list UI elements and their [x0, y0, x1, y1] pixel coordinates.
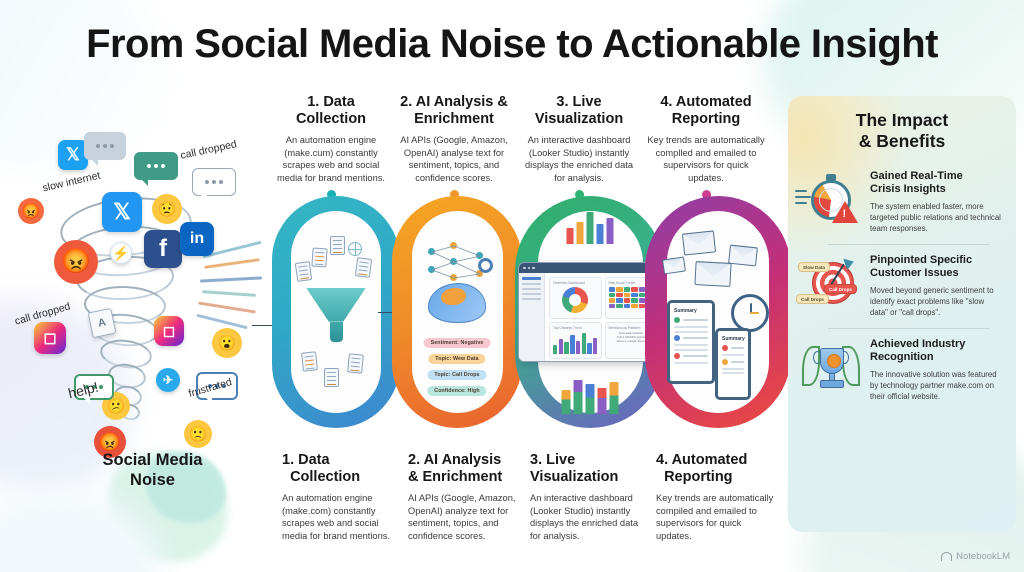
- bar-chart: [553, 332, 598, 354]
- bubble-slow-data: Slow Data: [798, 262, 830, 272]
- heading-line2: & Benefits: [859, 131, 946, 151]
- step-caption-top-4: 4. AutomatedReporting Key trends are aut…: [645, 94, 767, 199]
- stage2-artwork: Sentiment: Negative Topic: Wew Data Topi…: [392, 196, 522, 428]
- impact-benefits-panel: The Impact & Benefits Gained Real-TimeCr…: [788, 96, 1016, 532]
- worried-emoji: 😟: [152, 194, 182, 224]
- summary-heading: Summary: [674, 308, 708, 314]
- benefit-title-line2: Crisis Insights: [870, 183, 946, 195]
- telegram-icon: ✈: [156, 368, 180, 392]
- clock-icon: [731, 294, 769, 332]
- benefit-text: Achieved IndustryRecognition The innovat…: [870, 338, 1004, 402]
- shocked-emoji: 😮: [212, 328, 242, 358]
- step-title-line1: 4. Automated: [660, 94, 751, 110]
- notebooklm-logo-icon: [941, 552, 952, 561]
- angry-emoji: 😡: [54, 240, 98, 284]
- card-title: Top Channel Trend: [553, 326, 598, 330]
- motion-streak: [204, 258, 260, 269]
- document-icon: [301, 351, 318, 371]
- step-body: AI APIs (Google, Amazon, OpenAI) analyse…: [396, 134, 512, 184]
- benefit-divider: [828, 328, 990, 329]
- document-icon: [347, 353, 364, 373]
- benefit-body: The innovative solution was featured by …: [870, 369, 1004, 402]
- notebooklm-watermark: NotebookLM: [941, 551, 1010, 562]
- instagram-icon: ◻: [154, 316, 184, 346]
- frowning-emoji: 🙁: [184, 420, 212, 448]
- page-title: From Social Media Noise to Actionable In…: [0, 22, 1024, 67]
- motion-streak: [200, 276, 262, 282]
- phone-summary-device: Summary: [715, 328, 751, 400]
- step-caption-bottom-2: 2. AI Analysis& Enrichment AI APIs (Goog…: [408, 452, 526, 542]
- globe-icon: [348, 242, 362, 256]
- benefit-icon-slot: Slow Data Call Drops Call Drops: [800, 254, 862, 318]
- benefit-item-customer-issues: Slow Data Call Drops Call Drops Pinpoint…: [788, 254, 1016, 318]
- dashboard-sidebar: [519, 273, 545, 362]
- messenger-icon: ⚡: [110, 242, 132, 264]
- bottom-stacked-bar-chart: [562, 374, 619, 414]
- step-title-line1: 1. Data: [307, 94, 355, 110]
- trophy-laurel-icon: [800, 342, 862, 396]
- document-icon: [295, 261, 312, 282]
- step-body: An automation engine (make.com) constant…: [282, 492, 394, 542]
- benefit-title-line1: Gained Real-Time: [870, 170, 963, 182]
- step-body: AI APIs (Google, Amazon, OpenAI) analyze…: [408, 492, 526, 542]
- step-title-line1: 1. Data: [282, 452, 330, 468]
- envelope-icon: [728, 245, 758, 267]
- step-caption-bottom-1: 1. Data Collection An automation engine …: [282, 452, 394, 542]
- watermark-label: NotebookLM: [956, 551, 1010, 562]
- ai-tag-sentiment: Sentiment: Negative: [424, 338, 491, 348]
- stage4-artwork: Summary Summary: [645, 196, 791, 428]
- step-body: Key trends are automatically compiled an…: [656, 492, 778, 542]
- step-title-line1: 4. Automated: [656, 452, 747, 468]
- ai-tag-topic-data: Topic: Wew Data: [428, 354, 485, 364]
- envelope-icon: [662, 257, 686, 275]
- benefit-title-line1: Pinpointed Specific: [870, 254, 972, 266]
- pipeline-stage-4: Summary Summary: [645, 196, 791, 428]
- benefit-body: Moved beyond generic sentiment to identi…: [870, 285, 1004, 318]
- card-title: Overview Dashboard: [553, 281, 598, 285]
- chat-bubble-green: [134, 152, 178, 180]
- benefit-text: Gained Real-TimeCrisis Insights The syst…: [870, 170, 1004, 234]
- document-icon: [330, 236, 345, 255]
- envelope-icon: [682, 230, 716, 255]
- twitter-icon: 𝕏: [102, 192, 142, 232]
- benefit-icon-slot: [800, 338, 862, 402]
- social-media-noise-caption: Social Media Noise: [40, 450, 265, 491]
- chat-bubble-grey: [84, 132, 126, 160]
- dashboard-browser-window: Overview Dashboard Risk Score Trend: [518, 262, 662, 362]
- pipeline-stage-2: Sentiment: Negative Topic: Wew Data Topi…: [392, 196, 522, 428]
- step-caption-top-3: 3. LiveVisualization An interactive dash…: [523, 94, 635, 199]
- step-title-line2: Visualization: [530, 469, 618, 485]
- step-title-line1: 3. Live: [530, 452, 575, 468]
- motion-streak: [202, 290, 256, 297]
- step-title-line2: & Enrichment: [408, 469, 502, 485]
- stage3-artwork: Overview Dashboard Risk Score Trend: [515, 196, 665, 428]
- caption-line-2: Noise: [130, 471, 175, 489]
- step-caption-top-1: 1. DataCollection An automation engine (…: [276, 94, 386, 199]
- target-arrow-icon: Slow Data Call Drops Call Drops: [800, 258, 862, 310]
- step-caption-top-2: 2. AI Analysis &Enrichment AI APIs (Goog…: [396, 94, 512, 199]
- social-media-noise-illustration: 𝕏 𝕏 f in ⚡ ◻ ◻ ✈ A 😡 😡 😟 😕 😮 🙁 😡: [6, 130, 274, 470]
- step-title-line2: Visualization: [535, 111, 623, 127]
- step-caption-bottom-3: 3. LiveVisualization An interactive dash…: [530, 452, 648, 542]
- browser-title-bar: [519, 263, 661, 273]
- benefit-title-line2: Customer Issues: [870, 267, 959, 279]
- step-title-line1: 2. AI Analysis: [408, 452, 501, 468]
- document-card-icon: A: [88, 308, 117, 338]
- noise-label-slow-internet: slow internet: [41, 170, 101, 195]
- step-body: An interactive dashboard (Looker Studio)…: [530, 492, 648, 542]
- caption-line-1: Social Media: [103, 451, 203, 469]
- document-icon: [355, 257, 372, 278]
- document-icon: [324, 368, 339, 387]
- donut-chart: [562, 287, 588, 313]
- envelope-icon: [694, 261, 731, 287]
- ai-tag-topic-calls: Topic: Call Drops: [427, 370, 486, 380]
- gear-icon: [478, 258, 493, 273]
- step-title-line1: 2. AI Analysis &: [400, 94, 508, 110]
- instagram-icon: ◻: [34, 322, 66, 354]
- linkedin-icon: in: [180, 222, 214, 256]
- pipeline-stage-3: Overview Dashboard Risk Score Trend: [515, 196, 665, 428]
- benefit-divider: [828, 244, 990, 245]
- step-caption-bottom-4: 4. Automated Reporting Key trends are au…: [656, 452, 778, 542]
- benefit-item-industry-recognition: Achieved IndustryRecognition The innovat…: [788, 338, 1016, 402]
- infographic-canvas: From Social Media Noise to Actionable In…: [0, 0, 1024, 572]
- noise-label-call-dropped: call dropped: [179, 138, 237, 162]
- benefit-item-realtime-insights: Gained Real-TimeCrisis Insights The syst…: [788, 170, 1016, 234]
- heading-line1: The Impact: [856, 110, 948, 130]
- chat-bubble-white: [192, 168, 236, 196]
- facebook-icon: f: [144, 230, 182, 268]
- funnel-icon: [306, 288, 366, 346]
- ai-tag-confidence: Confidence: High: [427, 386, 486, 396]
- step-title-line1: 3. Live: [556, 94, 601, 110]
- step-title-line2: Collection: [290, 469, 360, 485]
- motion-streak: [196, 314, 247, 329]
- angry-emoji: 😡: [18, 198, 44, 224]
- bubble-call-drops: Call Drops: [824, 284, 857, 294]
- dashboard-card-overview: Overview Dashboard: [549, 277, 602, 319]
- benefit-icon-slot: [800, 170, 862, 234]
- step-title-line2: Collection: [296, 111, 366, 127]
- tablet-summary-device: Summary: [667, 300, 715, 384]
- motion-streak: [198, 301, 256, 313]
- step-title-line2: Reporting: [664, 469, 732, 485]
- document-icon: [311, 247, 327, 267]
- top-bar-chart: [567, 210, 614, 244]
- step-title-line2: Reporting: [672, 111, 740, 127]
- dashboard-card-channel: Top Channel Trend: [549, 322, 602, 359]
- step-title-line2: Enrichment: [414, 111, 494, 127]
- step-body: Key trends are automatically complled an…: [645, 134, 767, 184]
- brain-icon: [428, 283, 486, 323]
- stopwatch-alert-icon: [807, 174, 855, 222]
- benefit-text: Pinpointed SpecificCustomer Issues Moved…: [870, 254, 1004, 318]
- summary-heading: Summary: [722, 336, 744, 342]
- benefit-body: The system enabled faster, more targeted…: [870, 201, 1004, 234]
- impact-panel-heading: The Impact & Benefits: [788, 96, 1016, 156]
- step-body: An automation engine (make.cum) constant…: [276, 134, 386, 184]
- benefit-title-line1: Achieved Industry: [870, 338, 965, 350]
- benefit-title-line2: Recognition: [870, 351, 934, 363]
- bubble-call-drops: Call Drops: [796, 294, 829, 304]
- step-body: An interactive dashboard (Looker Studio)…: [523, 134, 635, 184]
- speed-lines: [795, 190, 811, 208]
